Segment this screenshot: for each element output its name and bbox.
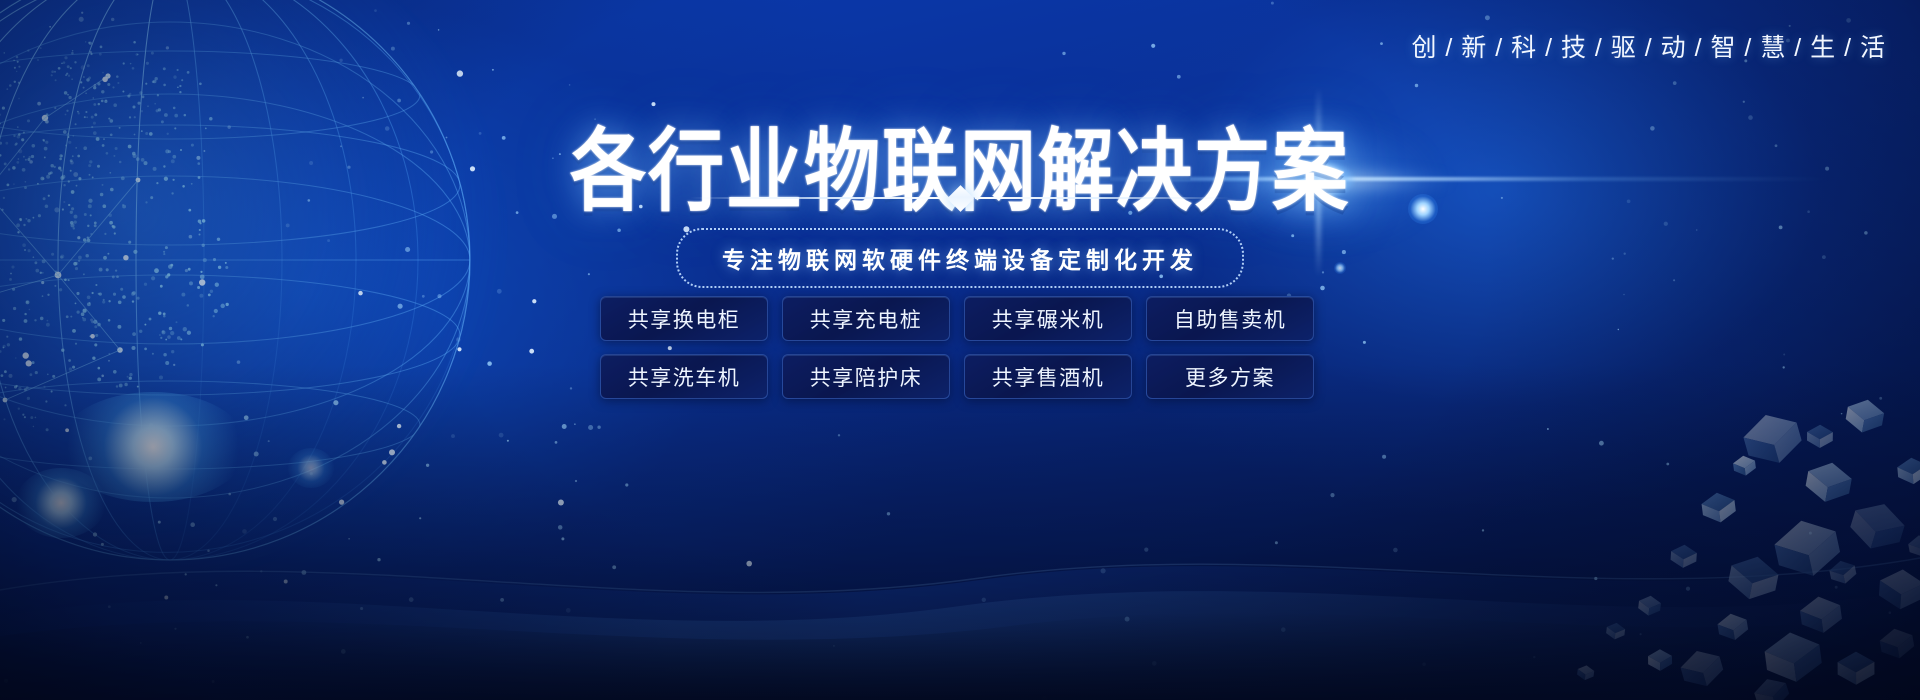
tag-button-accompanying-bed[interactable]: 共享陪护床	[782, 354, 950, 399]
tag-button-more-solutions[interactable]: 更多方案	[1146, 354, 1314, 399]
tagline-text: 创 / 新 / 科 / 技 / 驱 / 动 / 智 / 慧 / 生 / 活	[1411, 34, 1886, 62]
tag-button-rice-milling-machine[interactable]: 共享碾米机	[964, 296, 1132, 341]
tagline: 创 / 新 / 科 / 技 / 驱 / 动 / 智 / 慧 / 生 / 活	[1411, 28, 1886, 64]
diamond-icon	[947, 185, 974, 212]
tag-button-battery-swap-cabinet[interactable]: 共享换电柜	[600, 296, 768, 341]
divider-ornament	[690, 186, 1230, 210]
tag-button-liquor-vending-machine[interactable]: 共享售酒机	[964, 354, 1132, 399]
solution-tag-grid: 共享换电柜 共享充电桩 共享碾米机 自助售卖机 共享洗车机 共享陪护床 共享售酒…	[600, 296, 1320, 399]
banner-content: 创 / 新 / 科 / 技 / 驱 / 动 / 智 / 慧 / 生 / 活 各行…	[0, 0, 1920, 700]
divider-line-right	[975, 197, 1231, 199]
tag-button-car-wash-machine[interactable]: 共享洗车机	[600, 354, 768, 399]
tag-button-vending-machine[interactable]: 自助售卖机	[1146, 296, 1314, 341]
solution-tag-row-1: 共享换电柜 共享充电桩 共享碾米机 自助售卖机	[600, 296, 1320, 341]
divider-line-left	[690, 197, 946, 199]
subtitle-pill: 专注物联网软硬件终端设备定制化开发	[676, 228, 1244, 288]
hero-banner: 创 / 新 / 科 / 技 / 驱 / 动 / 智 / 慧 / 生 / 活 各行…	[0, 0, 1920, 700]
tag-button-charging-pile[interactable]: 共享充电桩	[782, 296, 950, 341]
solution-tag-row-2: 共享洗车机 共享陪护床 共享售酒机 更多方案	[600, 354, 1320, 399]
